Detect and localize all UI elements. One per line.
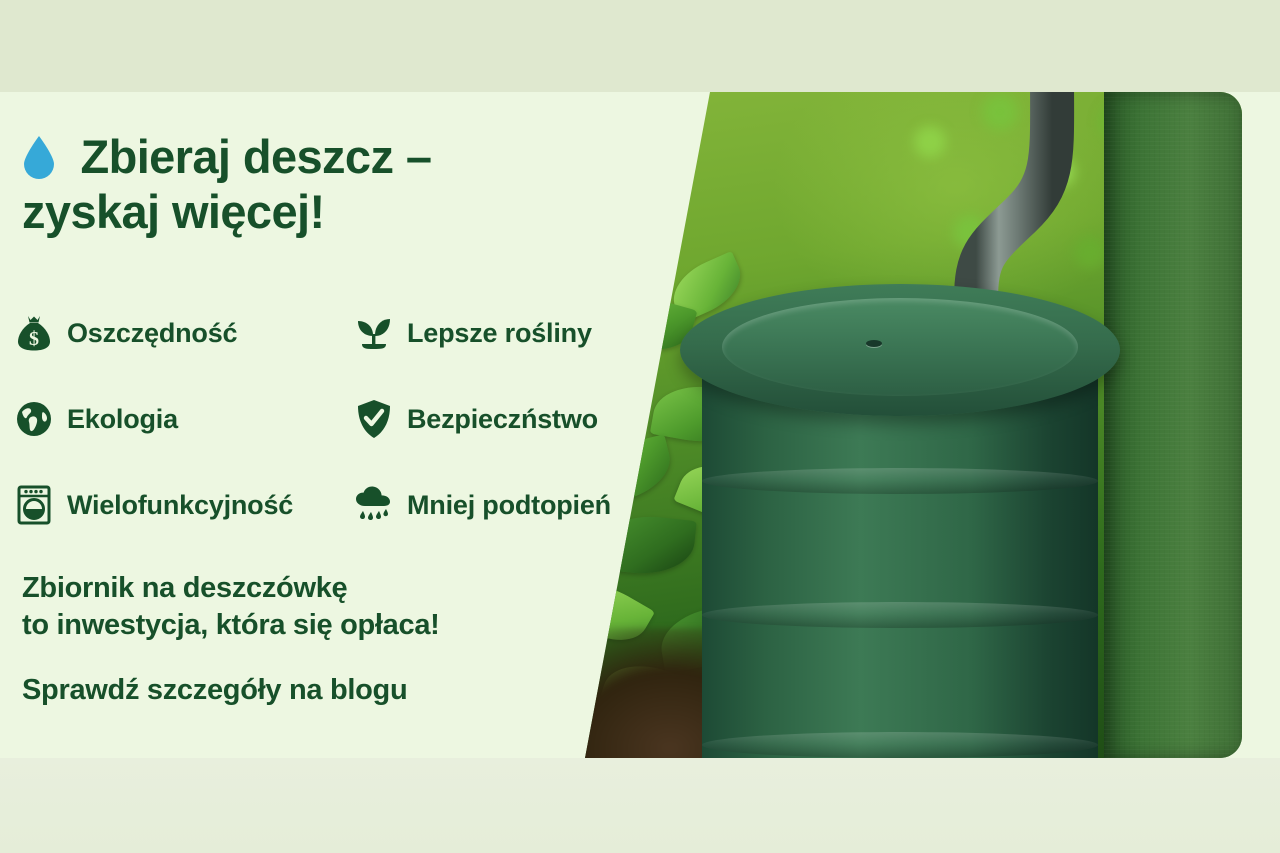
barrel-lid (680, 284, 1120, 416)
money-bag-icon: $ (14, 313, 54, 353)
feature-row: Wielofunkcyjność Mniej po (14, 462, 694, 548)
feature-item-multifunction: Wielofunkcyjność (14, 485, 354, 525)
feature-row: Ekologia Bezpieczństwo (14, 376, 694, 462)
feature-item-savings: $ Oszczędność (14, 313, 354, 353)
feature-row: $ Oszczędność (14, 290, 694, 376)
globe-icon (14, 399, 54, 439)
rain-barrel (680, 262, 1120, 758)
feature-item-less-flooding: Mniej podtopień (354, 485, 611, 525)
feature-item-better-plants: Lepsze rośliny (354, 313, 592, 353)
shield-check-icon (354, 399, 394, 439)
feature-list: $ Oszczędność (14, 290, 694, 548)
page-title: Zbieraj deszcz – zyskaj więcej! (22, 130, 582, 239)
lid-vent-icon (866, 340, 882, 347)
barrel-lid-inner (722, 298, 1078, 396)
svg-text:$: $ (29, 328, 39, 350)
feature-label: Oszczędność (67, 318, 237, 349)
closing-line-1: Zbiornik na deszczówkę (22, 570, 622, 607)
washing-machine-icon (14, 485, 54, 525)
closing-text-block: Zbiornik na deszczówkę to inwestycja, kt… (22, 570, 622, 707)
water-drop-icon (22, 135, 56, 179)
garden-wall (1104, 92, 1242, 758)
feature-label: Lepsze rośliny (407, 318, 592, 349)
feature-label: Bezpieczństwo (407, 404, 598, 435)
closing-line-2: to inwestycja, która się opłaca! (22, 607, 622, 644)
promo-banner-card: Zbieraj deszcz – zyskaj więcej! $ Oszc (0, 92, 1280, 758)
feature-label: Mniej podtopień (407, 490, 611, 521)
headline-line-1: Zbieraj deszcz – (80, 130, 431, 183)
feature-item-safety: Bezpieczństwo (354, 399, 598, 439)
blog-cta[interactable]: Sprawdź szczegóły na blogu (22, 674, 622, 707)
feature-item-ecology: Ekologia (14, 399, 354, 439)
seedling-icon (354, 313, 394, 353)
headline-line-2: zyskaj więcej! (22, 185, 325, 238)
rain-cloud-icon (354, 485, 394, 525)
feature-label: Wielofunkcyjność (67, 490, 293, 521)
banner-content: Zbieraj deszcz – zyskaj więcej! $ Oszc (0, 92, 600, 758)
feature-label: Ekologia (67, 404, 178, 435)
banner-stage: Zbieraj deszcz – zyskaj więcej! $ Oszc (0, 0, 1280, 853)
